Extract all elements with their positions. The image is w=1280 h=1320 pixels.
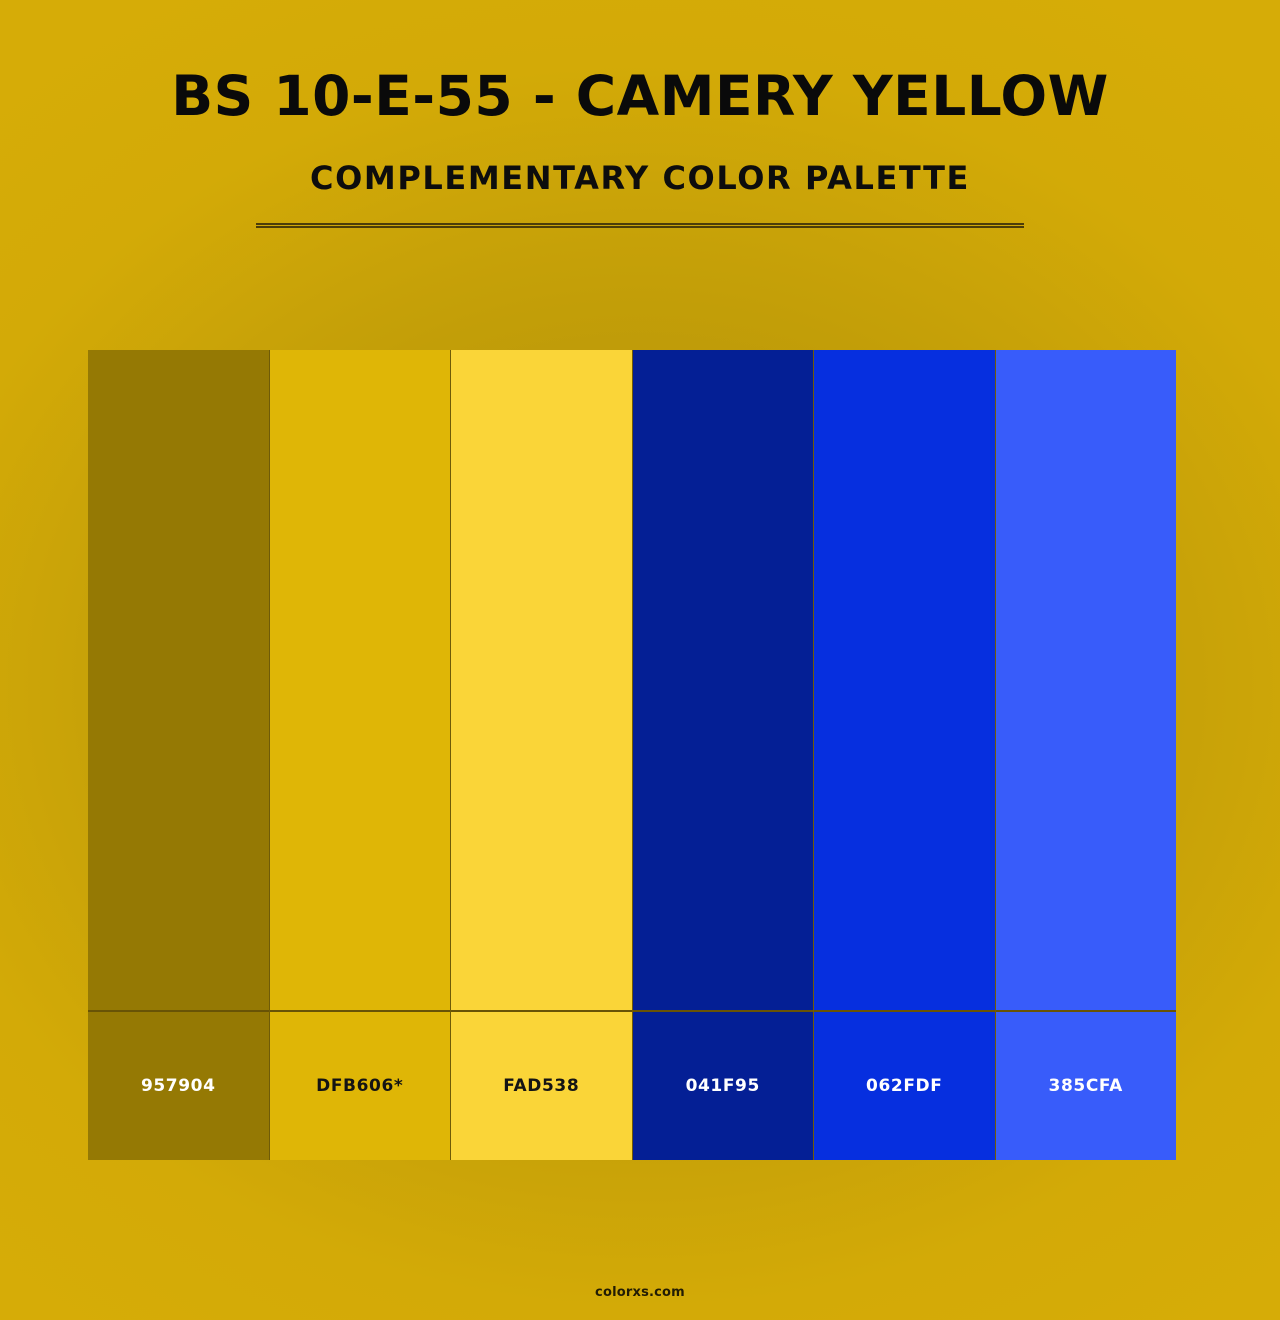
color-swatch[interactable]: DFB606* [270, 350, 452, 1160]
color-swatch[interactable]: 062FDF [814, 350, 996, 1160]
color-swatch-chip [814, 350, 995, 1010]
page-subtitle: COMPLEMENTARY COLOR PALETTE [0, 159, 1280, 197]
color-swatch-label-cell: DFB606* [270, 1012, 451, 1160]
color-swatch-label-cell: 385CFA [996, 1012, 1177, 1160]
color-hex-label: DFB606* [316, 1076, 403, 1096]
color-swatch-label-cell: 041F95 [633, 1012, 814, 1160]
color-swatch-chip [88, 350, 269, 1010]
color-swatch[interactable]: 957904 [88, 350, 270, 1160]
page-title: BS 10-E-55 - CAMERY YELLOW [0, 68, 1280, 125]
color-hex-label: 041F95 [686, 1076, 760, 1096]
color-swatch-chip [633, 350, 814, 1010]
color-swatch-chip [996, 350, 1177, 1010]
color-swatch-label-cell: 957904 [88, 1012, 269, 1160]
header-divider [256, 223, 1024, 228]
color-swatch-chip [270, 350, 451, 1010]
color-palette: 957904DFB606*FAD538041F95062FDF385CFA [88, 350, 1176, 1160]
color-hex-label: 957904 [141, 1076, 216, 1096]
color-hex-label: 062FDF [866, 1076, 942, 1096]
color-hex-label: 385CFA [1049, 1076, 1123, 1096]
color-swatch-chip [451, 350, 632, 1010]
footer-site-label: colorxs.com [0, 1285, 1280, 1300]
header: BS 10-E-55 - CAMERY YELLOW COMPLEMENTARY… [0, 0, 1280, 228]
color-swatch[interactable]: 385CFA [996, 350, 1177, 1160]
color-hex-label: FAD538 [503, 1076, 579, 1096]
color-swatch[interactable]: 041F95 [633, 350, 815, 1160]
color-swatch-label-cell: 062FDF [814, 1012, 995, 1160]
palette-page: BS 10-E-55 - CAMERY YELLOW COMPLEMENTARY… [0, 0, 1280, 1320]
color-swatch-label-cell: FAD538 [451, 1012, 632, 1160]
color-swatch[interactable]: FAD538 [451, 350, 633, 1160]
